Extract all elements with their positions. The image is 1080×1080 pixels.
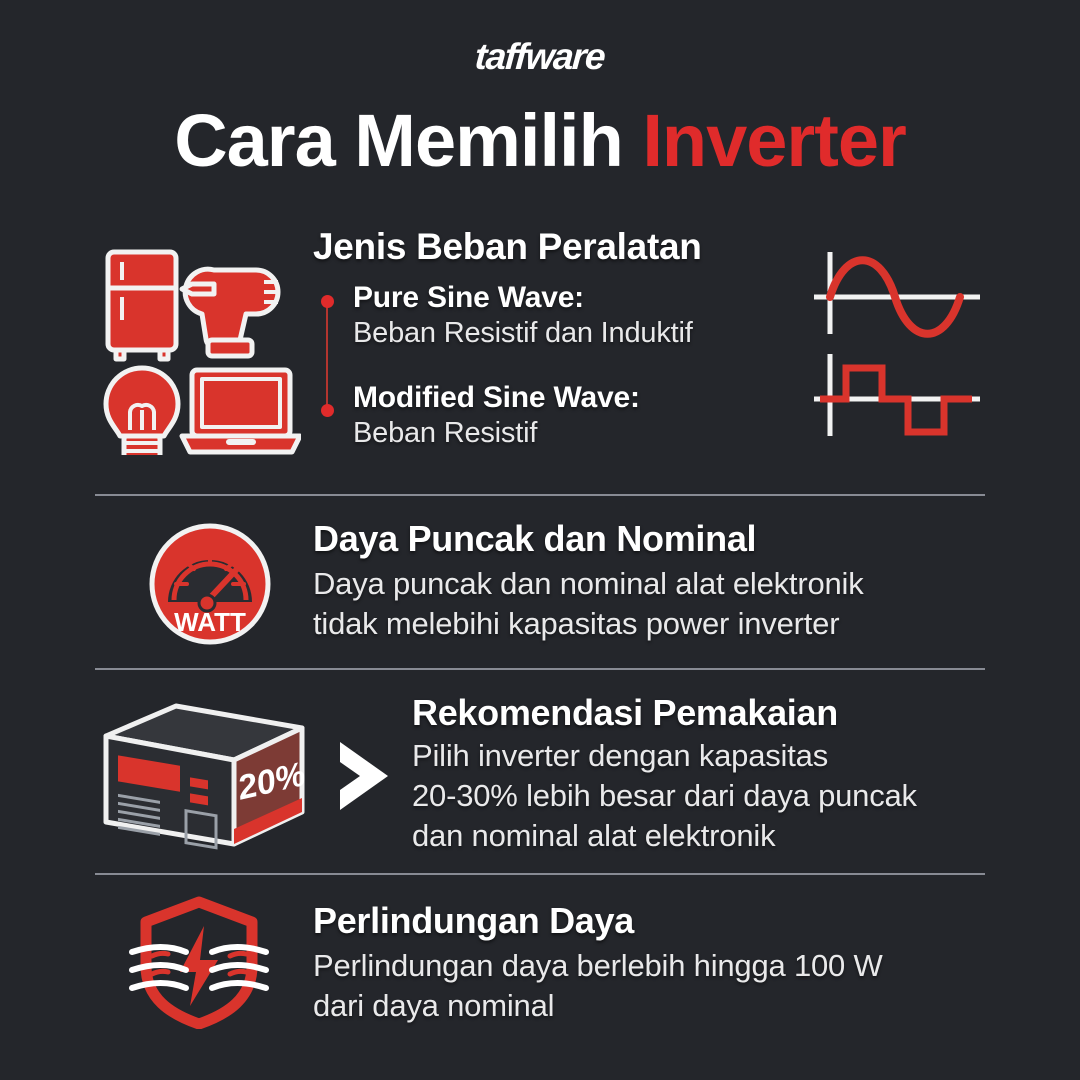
page-title: Cara Memilih Inverter bbox=[0, 104, 1080, 178]
section-body-line: Pilih inverter dengan kapasitas bbox=[412, 736, 992, 776]
section-rekomendasi-pemakaian: 20% Rekomendasi Pemakaian Pilih inverter… bbox=[0, 694, 1080, 862]
section-heading: Daya Puncak dan Nominal bbox=[313, 520, 993, 558]
section-body-line: Daya puncak dan nominal alat elektronik bbox=[313, 564, 993, 604]
bullet-label: Pure Sine Wave: bbox=[353, 281, 793, 315]
refrigerator-icon bbox=[108, 252, 176, 359]
brand-wordmark: taffware bbox=[474, 36, 606, 78]
bullet-desc: Beban Resistif dan Induktif bbox=[353, 317, 793, 350]
laptop-icon bbox=[182, 370, 300, 452]
bullet-label: Modified Sine Wave: bbox=[353, 381, 793, 415]
list-item: Modified Sine Wave: Beban Resistif bbox=[353, 381, 793, 450]
drill-icon bbox=[182, 269, 278, 356]
section-divider bbox=[95, 494, 985, 496]
section-daya-puncak-dan-nominal: WATT Daya Puncak dan Nominal Daya puncak… bbox=[0, 508, 1080, 658]
greater-than-chevron-icon bbox=[330, 736, 400, 816]
waveform-diagrams bbox=[800, 242, 990, 442]
section-heading: Rekomendasi Pemakaian bbox=[412, 694, 992, 732]
section-text: Rekomendasi Pemakaian Pilih inverter den… bbox=[412, 694, 992, 857]
section-divider bbox=[95, 873, 985, 875]
infographic-page: taffware Cara Memilih Inverter bbox=[0, 0, 1080, 1080]
appliance-icon-group bbox=[96, 240, 301, 455]
section-text: Daya Puncak dan Nominal Daya puncak dan … bbox=[313, 520, 993, 644]
watt-gauge-label: WATT bbox=[174, 607, 246, 637]
inverter-box-icon: 20% bbox=[98, 700, 310, 850]
section-body-line: tidak melebihi kapasitas power inverter bbox=[313, 604, 993, 644]
bullet-connector bbox=[321, 295, 333, 417]
section-heading: Jenis Beban Peralatan bbox=[313, 228, 702, 267]
light-bulb-icon bbox=[106, 368, 178, 455]
list-item: Pure Sine Wave: Beban Resistif dan Induk… bbox=[353, 281, 793, 350]
bullet-dot-icon bbox=[321, 295, 334, 308]
page-title-red: Inverter bbox=[642, 99, 905, 182]
page-title-white: Cara Memilih bbox=[174, 99, 623, 182]
shield-lightning-icon bbox=[124, 894, 274, 1029]
section-divider bbox=[95, 668, 985, 670]
section-body-line: dari daya nominal bbox=[313, 986, 993, 1026]
section-heading: Perlindungan Daya bbox=[313, 902, 993, 940]
pure-sine-wave-diagram bbox=[814, 252, 980, 334]
bullet-desc: Beban Resistif bbox=[353, 417, 793, 450]
section-body-line: Perlindungan daya berlebih hingga 100 W bbox=[313, 946, 993, 986]
bullet-rail-line bbox=[326, 301, 328, 411]
section-jenis-beban-peralatan: Jenis Beban Peralatan Pure Sine Wave: Be… bbox=[0, 228, 1080, 480]
modified-sine-wave-diagram bbox=[814, 354, 980, 436]
brand-logo: taffware bbox=[0, 36, 1080, 78]
section-perlindungan-daya: Perlindungan Daya Perlindungan daya berl… bbox=[0, 890, 1080, 1040]
watt-gauge-icon: WATT bbox=[148, 518, 273, 650]
bullet-dot-icon bbox=[321, 404, 334, 417]
section-text: Perlindungan Daya Perlindungan daya berl… bbox=[313, 902, 993, 1026]
section-body-line: dan nominal alat elektronik bbox=[412, 816, 992, 856]
section-body-line: 20-30% lebih besar dari daya puncak bbox=[412, 776, 992, 816]
